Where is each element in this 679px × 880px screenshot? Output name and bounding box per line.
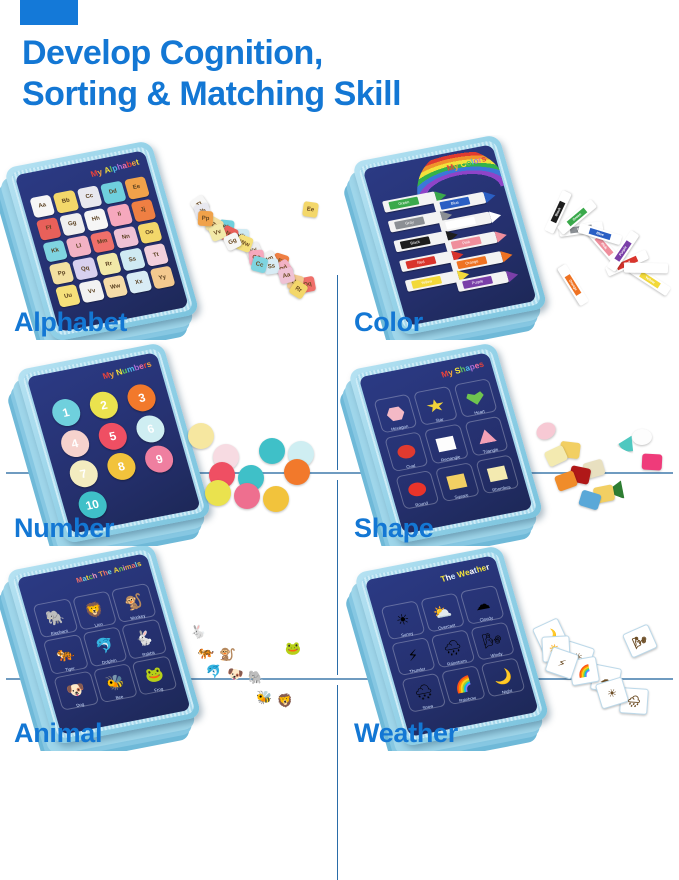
animal-slot[interactable]: 🦁Lion xyxy=(72,591,118,631)
weather-icon: 🌈 xyxy=(452,676,474,694)
crayon-tile[interactable]: Red xyxy=(399,251,454,272)
animal-icon: 🐬 xyxy=(94,638,116,656)
alphabet-tile[interactable]: Oo xyxy=(136,221,162,245)
animal-slot[interactable]: 🐘Elephant xyxy=(32,598,78,638)
number-disc[interactable]: 1 xyxy=(49,397,84,429)
feature-panel-shape: My Shapes HexagonStarHeartOvalRectangleT… xyxy=(340,341,679,546)
animal-icon: 🐒 xyxy=(123,594,145,612)
loose-shape-piece[interactable] xyxy=(533,419,558,443)
loose-animal-piece[interactable]: 🐶 xyxy=(225,665,245,685)
alphabet-tile[interactable]: Jj xyxy=(130,199,156,223)
loose-letter-tile[interactable]: Pp xyxy=(198,211,214,227)
weather-slot[interactable]: 🌨Snow xyxy=(401,673,446,713)
crayon-tile[interactable]: Green xyxy=(382,191,437,212)
shape-label: Square xyxy=(444,491,479,502)
shape-slot[interactable]: Rectangle xyxy=(424,424,469,464)
alphabet-tile[interactable]: Gg xyxy=(59,212,85,236)
shape-glyph xyxy=(465,390,486,407)
animal-label: Bee xyxy=(102,691,138,702)
weather-slot-grid: ☀Sunny⛅Overcast☁Cloudy⚡Thunder🌧Rainstorm… xyxy=(380,585,525,713)
animal-icon: 🐇 xyxy=(133,630,155,648)
weather-slot[interactable]: ⚡Thunder xyxy=(391,637,436,677)
animal-slot[interactable]: 🐇Rabbit xyxy=(121,619,167,659)
animal-slot[interactable]: 🐬Dolphin xyxy=(82,627,128,667)
loose-animal-piece[interactable]: 🐝 xyxy=(255,689,273,707)
crayon-grid: GreenBlueGrayWhiteBlackPinkRedOrangeYell… xyxy=(380,180,526,315)
animal-slot[interactable]: 🐝Bee xyxy=(92,663,138,703)
animal-icon: 🦁 xyxy=(84,602,106,620)
animal-label: Frog xyxy=(141,684,177,695)
loose-animal-piece[interactable]: 🐇 xyxy=(188,622,209,643)
feature-panel-number: My Numbers 12345678910 Number xyxy=(0,341,339,546)
loose-number-disc[interactable] xyxy=(234,483,260,509)
loose-shape-piece[interactable] xyxy=(632,429,653,446)
shape-glyph xyxy=(407,481,428,498)
alphabet-tile[interactable]: Ww xyxy=(102,275,128,299)
shape-label: Rectangle xyxy=(433,453,468,464)
number-disc[interactable]: 4 xyxy=(57,428,92,460)
weather-slot[interactable]: 🌧Rainstorm xyxy=(430,629,475,669)
alphabet-tile[interactable]: Rr xyxy=(96,253,122,277)
alphabet-tile[interactable]: Bb xyxy=(53,190,79,214)
page-title-line-2: Sorting & Matching Skill xyxy=(22,77,642,111)
shape-label: Triangle xyxy=(473,445,508,456)
weather-icon: 🌧 xyxy=(442,640,464,658)
loose-animal-piece[interactable]: 🐸 xyxy=(285,641,302,658)
alphabet-tile[interactable]: Qq xyxy=(72,257,98,281)
number-disc[interactable]: 9 xyxy=(142,443,177,475)
book-animal: Match The Animals 🐘Elephant🦁Lion🐒Monkey🐅… xyxy=(5,546,202,747)
shape-label: Star xyxy=(422,415,457,426)
loose-crayon[interactable]: White xyxy=(624,263,668,274)
alphabet-tile[interactable]: Tt xyxy=(143,243,169,267)
number-disc[interactable]: 3 xyxy=(125,382,160,414)
weather-icon: 🌨 xyxy=(413,684,435,702)
weather-label: Snow xyxy=(410,701,445,712)
crayon-tile[interactable]: Black xyxy=(393,231,448,252)
alphabet-tile[interactable]: Dd xyxy=(100,181,126,205)
feature-panel-alphabet: My Alphabet AaBbCcDdEeFfGgHhIiJjKkLlMmNn… xyxy=(0,135,339,340)
book-cover: My Colors GreenBlueGrayWhiteBlackPinkRed… xyxy=(351,135,547,336)
alphabet-tile[interactable]: Ll xyxy=(66,235,92,259)
shape-glyph xyxy=(447,474,468,491)
panel-caption-weather: Weather xyxy=(354,718,458,749)
weather-slot[interactable]: ☀Sunny xyxy=(380,600,425,640)
loose-shape-piece[interactable] xyxy=(642,453,663,470)
weather-icon: 🌬 xyxy=(481,632,503,650)
animal-icon: 🐅 xyxy=(55,646,77,664)
number-disc-grid: 12345678910 xyxy=(44,380,191,522)
book-cover: Match The Animals 🐘Elephant🦁Lion🐒Monkey🐅… xyxy=(5,546,201,745)
weather-label: Rainbow xyxy=(450,694,485,705)
weather-icon: ☀ xyxy=(394,612,411,629)
feature-panel-animal: Match The Animals 🐘Elephant🦁Lion🐒Monkey🐅… xyxy=(0,546,339,751)
shape-glyph xyxy=(425,398,446,415)
animal-icon: 🐝 xyxy=(104,674,126,692)
weather-slot[interactable]: 🌬Windy xyxy=(470,621,515,661)
product-feature-page: Develop Cognition, Sorting & Matching Sk… xyxy=(0,0,679,752)
panel-caption-shape: Shape xyxy=(354,513,434,544)
panel-caption-color: Color xyxy=(354,307,423,338)
shape-slot[interactable]: Star xyxy=(413,386,458,426)
shape-label: Round xyxy=(404,498,439,509)
shape-glyph xyxy=(396,443,417,460)
loose-animal-piece[interactable]: 🐅 xyxy=(196,642,216,662)
animal-slot[interactable]: 🐶Dog xyxy=(53,670,99,710)
shape-label: Oval xyxy=(393,460,428,471)
alphabet-tile[interactable]: Mm xyxy=(89,230,115,254)
weather-icon: ☁ xyxy=(473,596,492,613)
alphabet-tile[interactable]: Yy xyxy=(149,266,175,290)
animal-slot[interactable]: 🐅Tiger xyxy=(43,634,89,674)
panel-caption-alphabet: Alphabet xyxy=(14,307,127,338)
loose-weather-card[interactable]: 🌬 xyxy=(622,623,658,658)
loose-pieces-animal: 🐇🐒🐘🦁🐅🐶🐝🐸🐬 xyxy=(190,624,325,724)
animal-slot[interactable]: 🐸Frog xyxy=(132,655,178,695)
loose-number-disc[interactable] xyxy=(188,423,214,449)
shape-slot[interactable]: Rhombus xyxy=(475,454,520,494)
loose-pieces-color: BlackGrayPinkRedYellowGreenBluePurpleWhi… xyxy=(536,207,676,312)
alphabet-tile[interactable]: Ii xyxy=(106,203,132,227)
alphabet-tile[interactable]: Ff xyxy=(36,217,62,241)
weather-slot[interactable]: 🌙Night xyxy=(481,658,526,698)
book-title-number: My Numbers xyxy=(101,359,153,381)
panel-caption-number: Number xyxy=(14,513,114,544)
crayon-tile[interactable]: Yellow xyxy=(405,270,460,291)
loose-number-disc[interactable] xyxy=(284,459,310,485)
loose-animal-piece[interactable]: 🦁 xyxy=(276,692,294,710)
shape-glyph xyxy=(487,466,508,483)
feature-panel-color: My Colors GreenBlueGrayWhiteBlackPinkRed… xyxy=(340,135,679,340)
shape-slot[interactable]: Round xyxy=(395,470,440,510)
animal-slot[interactable]: 🐒Monkey xyxy=(111,583,157,623)
page-title: Develop Cognition, Sorting & Matching Sk… xyxy=(22,36,642,111)
shape-label: Heart xyxy=(462,407,497,418)
alphabet-tile[interactable]: Xx xyxy=(126,270,152,294)
number-disc[interactable]: 2 xyxy=(87,390,122,422)
weather-label: Night xyxy=(489,686,524,697)
alphabet-tile-grid: AaBbCcDdEeFfGgHhIiJjKkLlMmNnOoPpQqRrSsTt… xyxy=(29,176,175,308)
animal-icon: 🐸 xyxy=(144,666,166,684)
loose-number-disc[interactable] xyxy=(263,486,289,512)
loose-crayon[interactable]: Orange xyxy=(557,264,589,307)
feature-grid: My Alphabet AaBbCcDdEeFfGgHhIiJjKkLlMmNn… xyxy=(0,135,679,752)
shape-slot[interactable]: Square xyxy=(435,462,480,502)
shape-slot-grid: HexagonStarHeartOvalRectangleTriangleRou… xyxy=(373,378,519,510)
loose-number-disc[interactable] xyxy=(259,438,285,464)
loose-animal-piece[interactable]: 🐒 xyxy=(218,646,237,665)
loose-number-disc[interactable] xyxy=(205,480,231,506)
shape-slot[interactable]: Triangle xyxy=(464,416,509,456)
weather-slot[interactable]: 🌈Rainbow xyxy=(441,665,486,705)
weather-icon: 🌙 xyxy=(492,669,514,687)
alphabet-tile[interactable]: Hh xyxy=(83,208,109,232)
book-cover: The Weather ☀Sunny⛅Overcast☁Cloudy⚡Thund… xyxy=(353,546,549,747)
shape-label: Hexagon xyxy=(383,422,418,433)
loose-animal-piece[interactable]: 🐘 xyxy=(248,670,265,687)
shape-glyph xyxy=(436,436,457,453)
book-title-weather: The Weather xyxy=(439,562,491,584)
shape-slot[interactable]: Oval xyxy=(384,432,429,472)
alphabet-tile[interactable]: Cc xyxy=(76,185,102,209)
crayon-tile[interactable]: Gray xyxy=(388,211,443,232)
shape-slot[interactable]: Heart xyxy=(453,378,498,418)
weather-slot[interactable]: ☁Cloudy xyxy=(460,585,505,625)
loose-letter-tile[interactable]: Ee xyxy=(302,201,319,218)
alphabet-tile[interactable]: Nn xyxy=(113,226,139,250)
weather-slot[interactable]: ⛅Overcast xyxy=(420,593,465,633)
shape-label: Rhombus xyxy=(484,483,519,494)
alphabet-tile[interactable]: Ss xyxy=(119,248,145,272)
weather-icon: ⚡ xyxy=(406,648,420,664)
number-disc[interactable]: 8 xyxy=(104,451,139,483)
animal-slot-grid: 🐘Elephant🦁Lion🐒Monkey🐅Tiger🐬Dolphin🐇Rabb… xyxy=(32,583,177,711)
brand-swatch xyxy=(20,0,78,25)
page-title-line-1: Develop Cognition, xyxy=(22,34,323,72)
number-disc[interactable]: 6 xyxy=(133,413,168,445)
alphabet-tile[interactable]: Vv xyxy=(79,280,105,304)
animal-icon: 🐘 xyxy=(44,609,66,627)
alphabet-tile[interactable]: Uu xyxy=(55,284,81,308)
alphabet-tile[interactable]: Pp xyxy=(49,262,75,286)
animal-icon: 🐶 xyxy=(65,682,87,700)
alphabet-tile[interactable]: Kk xyxy=(42,239,68,263)
loose-pieces-number xyxy=(188,423,318,518)
shape-slot[interactable]: Hexagon xyxy=(373,394,418,434)
book-title-alphabet: My Alphabet xyxy=(89,157,140,179)
loose-pieces-alphabet: TtBbYyFfQqZzKkMmUuJhNnOoDdEeVvWwSsRrPpGg… xyxy=(192,197,332,307)
panel-caption-animal: Animal xyxy=(14,718,102,749)
shape-glyph xyxy=(476,428,497,445)
alphabet-tile[interactable]: Ee xyxy=(124,176,150,200)
shape-glyph xyxy=(385,405,406,422)
number-disc[interactable]: 7 xyxy=(66,458,101,490)
loose-pieces-shape xyxy=(536,423,671,518)
loose-animal-piece[interactable]: 🐬 xyxy=(205,662,224,681)
weather-icon: ⛅ xyxy=(432,604,454,622)
book-title-shape: My Shapes xyxy=(439,359,484,380)
alphabet-tile[interactable]: Aa xyxy=(29,194,55,218)
feature-panel-weather: The Weather ☀Sunny⛅Overcast☁Cloudy⚡Thund… xyxy=(340,546,679,751)
animal-label: Dog xyxy=(62,699,98,710)
number-disc[interactable]: 5 xyxy=(95,420,130,452)
loose-pieces-weather: 🌙☀☁🌧⛅🌈☀🌬⚡ xyxy=(536,622,674,727)
